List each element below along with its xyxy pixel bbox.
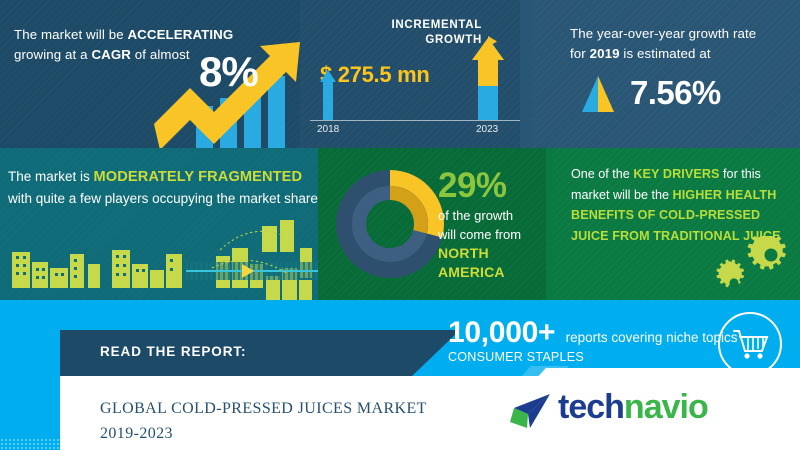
cagr-line1-bold: ACCELERATING [127,27,233,42]
top-row: The market will be ACCELERATING growing … [0,0,800,148]
report-count: 10,000+ [448,316,555,349]
middle-row: The market is MODERATELY FRAGMENTED with… [0,148,800,300]
drivers-panel: One of the KEY DRIVERS for this market w… [553,148,800,300]
yoy-value: 7.56% [630,74,721,112]
cagr-line2-tail: of almost [131,47,190,62]
read-the-report-label: READ THE REPORT: [100,344,246,359]
axis-baseline [310,120,522,121]
cagr-line2-plain: growing at a [14,47,91,62]
fragmentation-headline: The market is MODERATELY FRAGMENTED with… [8,166,318,209]
yoy-line2-b: is estimated at [620,46,711,61]
yoy-line1: The year-over-year growth rate [570,26,756,41]
cagr-panel: The market will be ACCELERATING growing … [0,0,300,148]
logo-navio: navio [624,388,708,426]
gears-icon [716,236,794,298]
yoy-headline: The year-over-year growth rate for 2019 … [570,24,800,64]
fragmentation-panel: The market is MODERATELY FRAGMENTED with… [0,148,318,300]
infographic-canvas: The market will be ACCELERATING growing … [0,0,800,450]
donut-chart [330,164,450,284]
technavio-wordmark: technavio [558,388,708,427]
yoy-line2-a: for [570,46,590,61]
yoy-panel: The year-over-year growth rate for 2019 … [532,0,800,148]
cagr-line2-bold: CAGR [91,47,131,62]
logo-tech: tech [558,388,624,426]
footer-dot-texture [0,438,800,450]
arrow-bar-chart [300,12,532,124]
triangle-growth-icon [580,74,616,114]
report-count-row: 10,000+ reports covering niche topics [448,316,737,350]
frag-text-b: with quite a few players occupying the m… [8,191,318,206]
frag-text-a: The market is [8,169,94,184]
region-line2: will come from [438,225,553,244]
region-description: of the growth will come from NORTH AMERI… [438,206,553,282]
frag-text-bold: MODERATELY FRAGMENTED [94,169,303,185]
incremental-growth-panel: INCREMENTAL GROWTH $ 275.5 mn 2018 2023 [300,0,532,148]
region-line1: of the growth [438,206,553,225]
cagr-line1-plain: The market will be [14,27,127,42]
region-name-line1: NORTH [438,244,553,263]
region-name-line2: AMERICA [438,263,553,282]
shopping-cart-icon[interactable] [716,310,784,378]
drivers-bold-a: KEY DRIVERS [633,167,719,181]
year-start-label: 2018 [317,124,339,135]
drivers-headline: One of the KEY DRIVERS for this market w… [571,164,789,246]
read-the-report-tab[interactable]: READ THE REPORT: [60,330,460,376]
region-value: 29% [438,166,507,206]
footer-row: READ THE REPORT: GLOBAL COLD-PRESSED JUI… [0,300,800,450]
city-buildings-icon [0,220,318,300]
year-end-label: 2023 [476,124,498,135]
report-category: CONSUMER STAPLES [448,350,584,364]
drivers-text-a: One of the [571,167,633,181]
report-count-suffix: reports covering niche topics [566,330,738,345]
cagr-value: 8% [199,48,258,96]
region-panel: 29% of the growth will come from NORTH A… [318,148,553,300]
yoy-line2-bold: 2019 [590,46,620,61]
